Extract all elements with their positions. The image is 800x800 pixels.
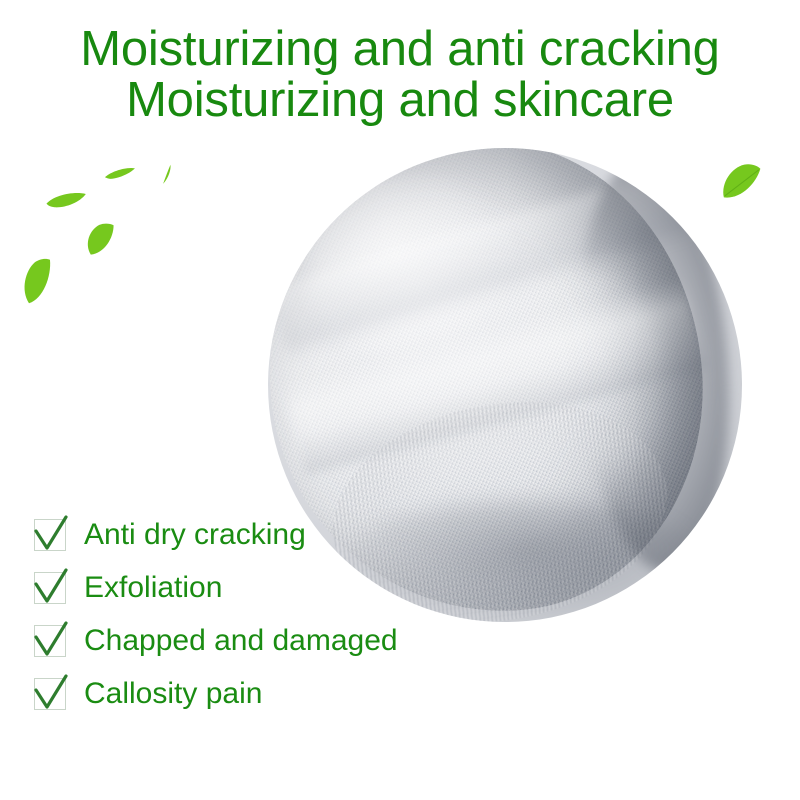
checkbox[interactable] — [34, 519, 66, 551]
checkmark-icon — [32, 673, 70, 713]
checkbox[interactable] — [34, 572, 66, 604]
leaf-top-sliver-icon — [156, 161, 176, 186]
checkmark-icon — [32, 514, 70, 554]
checklist-item[interactable]: Chapped and damaged — [34, 614, 554, 667]
leaf-mid-left-icon — [44, 189, 89, 221]
checklist-item-label: Exfoliation — [84, 573, 222, 603]
checklist-item-label: Callosity pain — [84, 679, 262, 709]
checklist-item[interactable]: Exfoliation — [34, 561, 554, 614]
checklist-item-label: Anti dry cracking — [84, 520, 306, 550]
leaf-lower-left-icon — [17, 255, 55, 307]
checkmark-icon — [32, 620, 70, 660]
checklist-item[interactable]: Callosity pain — [34, 667, 554, 720]
page-title: Moisturizing and anti cracking Moisturiz… — [0, 24, 800, 126]
benefits-checklist: Anti dry crackingExfoliationChapped and … — [34, 508, 554, 720]
headline-line-1: Moisturizing and anti cracking — [0, 24, 800, 75]
checkmark-icon — [32, 567, 70, 607]
headline-line-2: Moisturizing and skincare — [0, 75, 800, 126]
leaf-center-left-icon — [80, 218, 119, 261]
checklist-item[interactable]: Anti dry cracking — [34, 508, 554, 561]
leaf-top-small-icon — [102, 164, 139, 190]
product-poster: Moisturizing and anti cracking Moisturiz… — [0, 0, 800, 800]
checklist-item-label: Chapped and damaged — [84, 626, 398, 656]
checkbox[interactable] — [34, 625, 66, 657]
checkbox[interactable] — [34, 678, 66, 710]
